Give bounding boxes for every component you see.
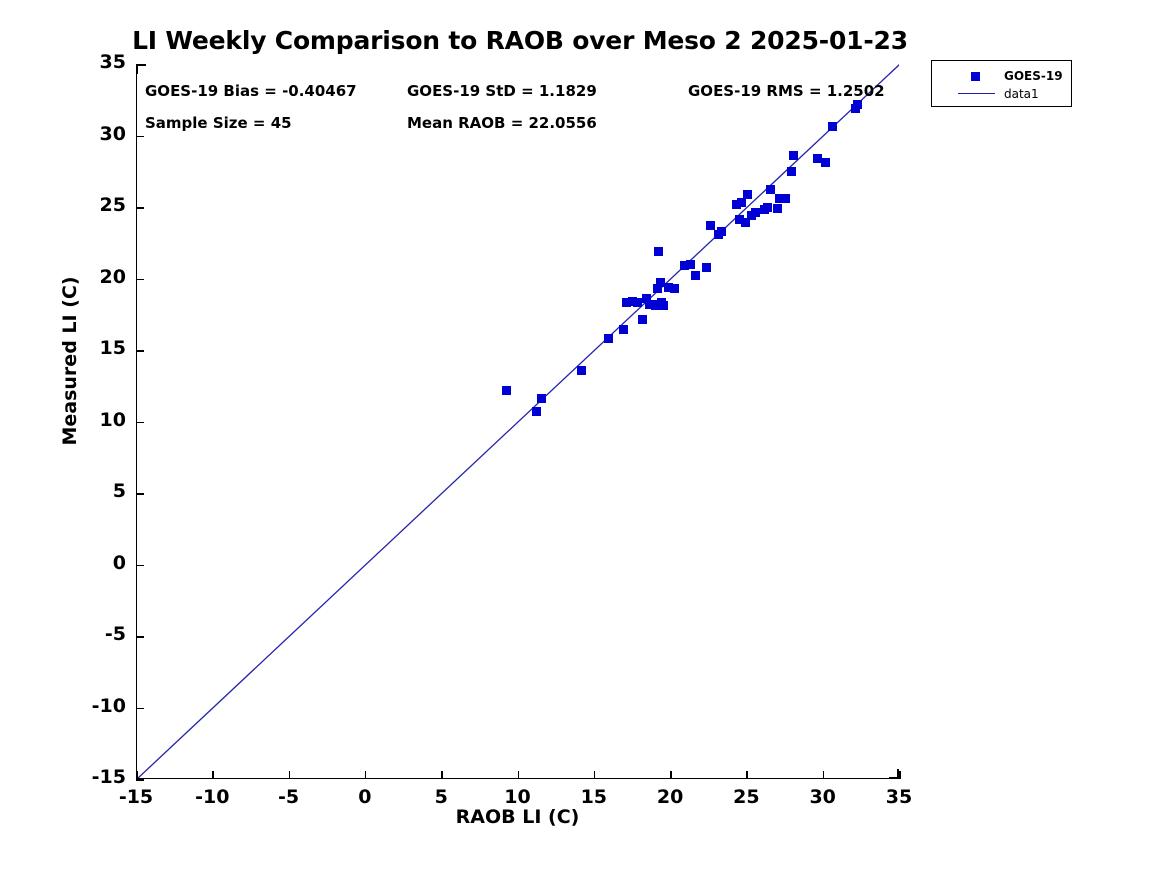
legend-box: GOES-19 data1	[931, 60, 1072, 107]
legend-item-label-goes19: GOES-19	[1004, 69, 1063, 83]
scatter-point	[619, 325, 628, 334]
x-axis-tick	[212, 771, 214, 779]
page-title: LI Weekly Comparison to RAOB over Meso 2…	[0, 26, 1040, 55]
scatter-point	[577, 366, 586, 375]
y-axis-tick	[136, 708, 144, 710]
y-axis-tick	[136, 350, 144, 352]
scatter-point	[828, 122, 837, 131]
annotation-sample-size: Sample Size = 45	[145, 114, 292, 132]
y-axis-tick	[136, 636, 144, 638]
x-axis-tick	[136, 771, 138, 779]
scatter-point	[821, 158, 830, 167]
x-axis-tick	[289, 771, 291, 779]
legend-square-marker-icon	[971, 72, 980, 81]
x-axis-tick	[594, 771, 596, 779]
scatter-point	[743, 190, 752, 199]
y-axis-tick	[136, 279, 144, 281]
series-layer	[137, 64, 899, 778]
x-axis-tick	[823, 771, 825, 779]
plot-axes	[136, 64, 899, 779]
y-axis-tick	[136, 493, 144, 495]
legend-line-sample-icon	[958, 93, 995, 94]
y-axis-tick-label: 5	[56, 480, 126, 502]
axis-corner-stub	[136, 64, 146, 66]
scatter-point	[659, 301, 668, 310]
figure-canvas: LI Weekly Comparison to RAOB over Meso 2…	[0, 0, 1167, 875]
scatter-point	[787, 167, 796, 176]
x-axis-tick-label: 10	[483, 786, 553, 808]
y-axis-tick-label: 35	[56, 51, 126, 73]
scatter-point	[853, 100, 862, 109]
plot-inner	[137, 64, 899, 778]
scatter-point	[773, 204, 782, 213]
y-axis-tick	[136, 207, 144, 209]
y-axis-tick	[136, 779, 144, 781]
legend-item-label-data1: data1	[1004, 87, 1039, 101]
scatter-point	[670, 284, 679, 293]
x-axis-tick-label: -5	[254, 786, 324, 808]
x-axis-tick-label: 20	[635, 786, 705, 808]
y-axis-tick-label: 25	[56, 194, 126, 216]
scatter-point	[763, 203, 772, 212]
x-axis-tick-label: -15	[101, 786, 171, 808]
x-axis-tick-label: -10	[177, 786, 247, 808]
scatter-point	[691, 271, 700, 280]
x-axis-label: RAOB LI (C)	[136, 806, 899, 828]
y-axis-tick-label: -10	[56, 695, 126, 717]
scatter-point	[766, 185, 775, 194]
scatter-point	[604, 334, 613, 343]
y-axis-tick	[136, 422, 144, 424]
y-axis-tick-label: -15	[56, 766, 126, 788]
scatter-point	[633, 298, 642, 307]
y-axis-tick	[136, 136, 144, 138]
scatter-point	[702, 263, 711, 272]
y-axis-tick-label: 0	[56, 552, 126, 574]
annotation-bias: GOES-19 Bias = -0.40467	[145, 82, 357, 100]
x-axis-tick-label: 25	[711, 786, 781, 808]
annotation-rms: GOES-19 RMS = 1.2502	[688, 82, 885, 100]
scatter-point	[737, 198, 746, 207]
reference-line	[137, 64, 899, 778]
annotation-std: GOES-19 StD = 1.1829	[407, 82, 597, 100]
scatter-point	[502, 386, 511, 395]
y-axis-tick-label: 30	[56, 123, 126, 145]
axis-corner-stub	[889, 777, 899, 779]
scatter-point	[654, 247, 663, 256]
scatter-point	[781, 194, 790, 203]
annotation-mean-raob: Mean RAOB = 22.0556	[407, 114, 597, 132]
scatter-point	[717, 227, 726, 236]
x-axis-tick	[746, 771, 748, 779]
scatter-point	[537, 394, 546, 403]
scatter-point	[686, 260, 695, 269]
scatter-point	[638, 315, 647, 324]
x-axis-tick-label: 30	[788, 786, 858, 808]
scatter-point	[532, 407, 541, 416]
x-axis-tick	[670, 771, 672, 779]
x-axis-tick	[441, 771, 443, 779]
x-axis-tick	[365, 771, 367, 779]
x-axis-tick	[899, 771, 901, 779]
x-axis-tick-label: 0	[330, 786, 400, 808]
scatter-point	[751, 208, 760, 217]
x-axis-tick-label: 15	[559, 786, 629, 808]
x-axis-tick-label: 5	[406, 786, 476, 808]
y-axis-label: Measured LI (C)	[59, 261, 81, 461]
x-axis-tick	[518, 771, 520, 779]
x-axis-tick-label: 35	[864, 786, 934, 808]
scatter-point	[789, 151, 798, 160]
y-axis-tick-label: -5	[56, 623, 126, 645]
y-axis-tick	[136, 565, 144, 567]
